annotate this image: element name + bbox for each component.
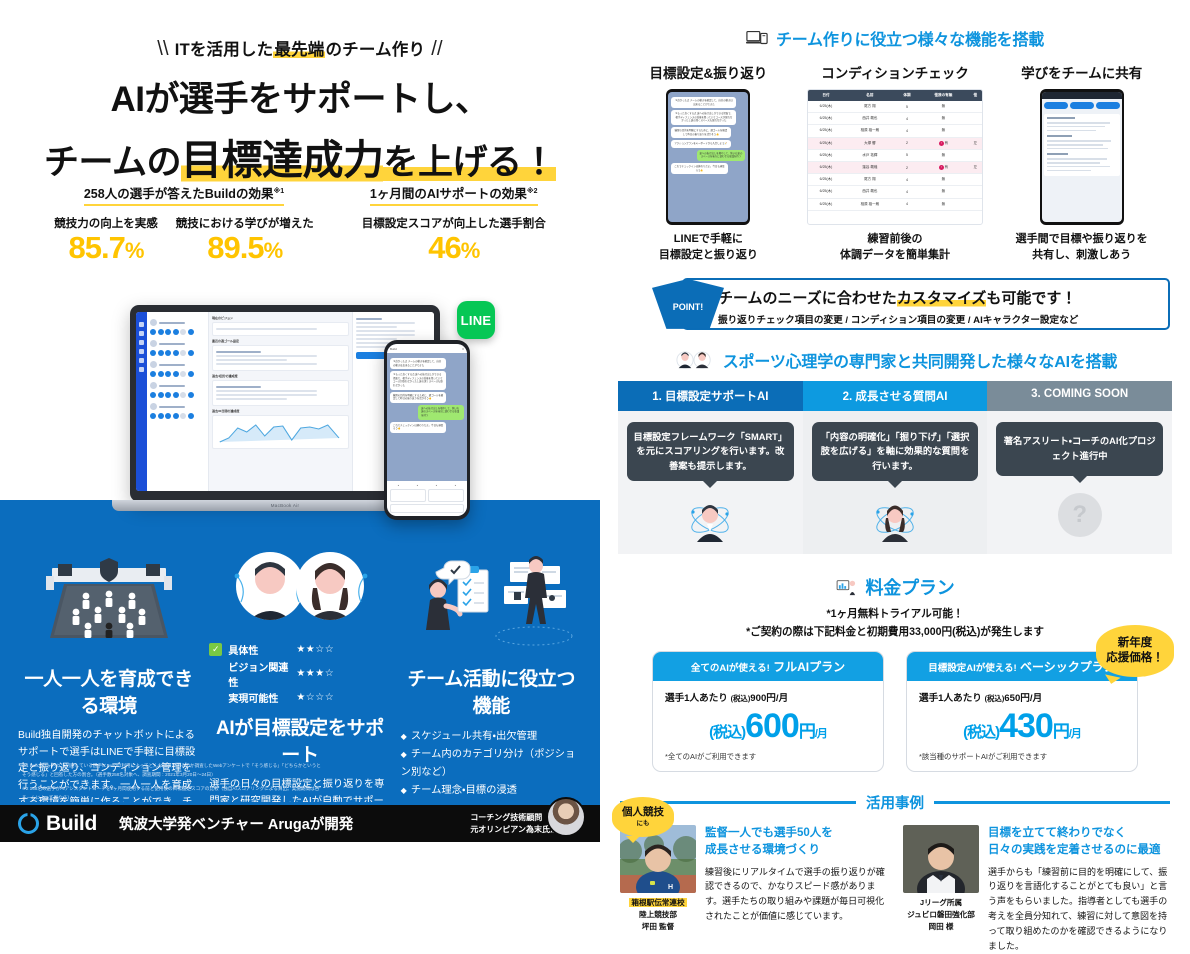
brochure-page: \\ITを活用した最先端のチーム作り// AIが選手をサポートし、 チームの目標… <box>0 0 1190 842</box>
card-caption: LINEで手軽に 目標設定と振り返り <box>620 232 797 264</box>
case-org-line-1: Jリーグ所属 <box>903 897 979 909</box>
slash-right: // <box>425 38 449 60</box>
plan-header: 全てのAIが使える! フルAIプラン <box>653 652 883 681</box>
tab-condition[interactable]: ● <box>417 484 418 487</box>
feature-cards-row: 目標設定&振り返り ▼良かった点 チームの動きを確認して、自分の動きは出来ること… <box>614 62 1176 264</box>
cell-injury: 無 <box>918 113 968 125</box>
cell-condition: 4 <box>895 113 918 125</box>
stat-unit: % <box>125 238 144 263</box>
stat-value: 46% <box>362 232 546 265</box>
phone-action-panel: ●●●● <box>387 481 467 516</box>
phone-quick-cards <box>390 489 464 502</box>
player-status-dots <box>150 329 205 335</box>
nav-icon-goals[interactable] <box>139 340 144 345</box>
avatar <box>150 361 157 368</box>
tab-checkin[interactable]: ● <box>398 484 399 487</box>
stat-number: 85.7 <box>69 230 125 265</box>
status-dot <box>188 350 194 356</box>
case-org-line-2: 陸上競技部 <box>620 909 696 921</box>
card-title <box>216 386 261 388</box>
price-period: /月 <box>815 728 827 740</box>
plan-body: 選手1人あたり (税込)650円/月 (税込)430円/月 *該当種のサポートA… <box>907 681 1137 771</box>
achievement-card <box>212 380 349 406</box>
pricing-cards: 新年度 応援価格！ 全てのAIが使える! フルAIプラン 選手1人あたり (税込… <box>614 651 1176 772</box>
stat-group-2-note: ※2 <box>527 188 538 195</box>
text-line <box>356 338 397 340</box>
status-dot <box>165 350 171 356</box>
card-title: 学びをチームに共有 <box>993 62 1170 82</box>
headline-line-2: チームの目標達成力を上げる！ <box>0 126 600 186</box>
card-caption: 選手間で目標や振り返りを 共有し、刺激しあう <box>993 232 1170 264</box>
phone-menu-icon[interactable]: ≡ <box>462 347 464 351</box>
stat-value: 89.5% <box>176 232 314 265</box>
col-name: 名前 <box>844 90 895 101</box>
status-dot <box>180 329 186 335</box>
status-dot <box>173 350 179 356</box>
ai-avatar-male-svg <box>688 498 732 542</box>
badge-line-2: 応援価格！ <box>1106 651 1164 667</box>
text-line <box>356 326 397 328</box>
table-row: 6/25(木)相原 裕一朗4無 <box>808 198 983 210</box>
text-line <box>356 334 415 336</box>
cell-extra: 左 <box>968 137 982 149</box>
cell-date: 6/25(木) <box>808 149 845 161</box>
old-price-label: 選手1人あたり <box>919 693 982 704</box>
hero-section: \\ITを活用した最先端のチーム作り// AIが選手をサポートし、 チームの目標… <box>0 0 600 186</box>
chat-bubble-incoming: これでチェックインは終わりだよ。今日も頑張ろう👍 <box>390 422 446 433</box>
table-row: 6/25(木)大塚 響2! 有左 <box>808 137 983 149</box>
table-row: 6/25(木)尾方 翔4無 <box>808 174 983 186</box>
feature-card-share-learning: 学びをチームに共有 <box>993 62 1170 264</box>
kicker-post: のチーム作り <box>325 41 425 59</box>
player-name <box>159 406 185 408</box>
cell-condition: 5 <box>895 149 918 161</box>
caption-line-2: 体調データを簡単集計 <box>807 248 984 264</box>
table-row: 6/25(木)尾方 翔5無 <box>808 101 983 113</box>
dashboard-center-panel: 現在のビジョン 直近の週ゴール設定 過去4回分の達成度 <box>209 312 352 491</box>
avatar <box>150 319 157 326</box>
solo-badge-sub: にも <box>637 820 650 827</box>
point-subtitle: 振り返りチェック項目の変更 / コンディション項目の変更 / AIキャラクター設… <box>718 312 1158 326</box>
stat-group-1-heading: 258人の選手が答えたBuildの効果※1 <box>84 183 284 206</box>
product-mockup: 現在のビジョン 直近の週ゴール設定 過去4回分の達成度 <box>112 295 512 545</box>
condition-table: 日付 名前 体調 怪我の有無 怪 6/25(木)尾方 翔5無 6/25(木)西井… <box>808 90 983 211</box>
checkin-button[interactable] <box>390 489 426 502</box>
laptop-phone-icon <box>746 29 768 47</box>
section-2-title: スポーツ心理学の専門家と共同開発した様々なAIを搭載 <box>723 348 1117 372</box>
brand-name: Build <box>46 812 97 836</box>
rating-row-vision: ✓ ビジョン関連性 ★★★☆ <box>209 659 390 689</box>
player-row[interactable] <box>150 319 205 326</box>
point-title: チームのニーズに合わせたカスタマイズも可能です！ <box>718 287 1158 308</box>
dashboard-achievement-label: 過去4回分の達成度 <box>212 374 349 378</box>
feature-illustration-activity <box>401 540 582 660</box>
kicker-highlight: 最先端 <box>273 41 325 59</box>
table-row: 6/25(木)水戸 祐輝5無 <box>808 149 983 161</box>
status-dot <box>180 371 186 377</box>
headline-line-1: AIが選手をサポートし、 <box>0 71 600 122</box>
cell-condition: 2 <box>895 137 918 149</box>
ai-col-growth-question: 「内容の明確化」「掘り下げ」「選択肢を広げる」を軸に効果的な質問を行います。 <box>803 411 988 554</box>
player-status-dots <box>150 350 205 356</box>
table-row: 6/25(木)相原 裕一朗4無 <box>808 125 983 137</box>
section-header-pricing: 料金プラン <box>614 574 1176 600</box>
cell-extra <box>968 198 982 210</box>
cell-name: 窪谷 颯哉 <box>844 161 895 173</box>
plan-note: *該当種のサポートAIがご利用できます <box>919 751 1125 762</box>
plan-header-small: 全てのAIが使える! <box>691 663 770 674</box>
nav-icon-settings[interactable] <box>139 367 144 372</box>
feature-team-functions: チーム活動に役立つ機能 スケジュール共有・出欠管理 チーム内のカテゴリ分け（ポジ… <box>401 540 582 842</box>
case-title-line-1: 目標を立てて終わりでなく <box>988 825 1170 842</box>
status-dot <box>173 392 179 398</box>
cell-date: 6/25(木) <box>808 161 845 173</box>
case-text: 選手からも「練習前に目的を明確にして、振り返りを言語化することがとても良い」と言… <box>988 865 1170 954</box>
status-dot <box>180 350 186 356</box>
text-line <box>216 398 287 400</box>
dashboard-vision-label: 現在のビジョン <box>212 316 349 320</box>
status-dot <box>188 371 194 377</box>
filter-chip[interactable] <box>1044 102 1068 109</box>
dashboard-nav-rail[interactable] <box>136 312 147 491</box>
plan-new-price: (税込)430円/月 <box>919 707 1125 746</box>
price-yen: 円 <box>799 722 815 741</box>
stat-unit: % <box>264 238 283 263</box>
stat-item-skill-improvement: 競技力の向上を実感 85.7% <box>54 215 158 265</box>
feature-illustration-team <box>18 540 199 660</box>
plan-old-price: 選手1人あたり (税込)650円/月 <box>919 690 1125 704</box>
case-org-line-3: 岡田 様 <box>903 921 979 933</box>
right-column: チーム作りに役立つ様々な機能を搭載 目標設定&振り返り ▼良かった点 チームの動… <box>600 0 1190 842</box>
chart-svg <box>213 416 348 449</box>
list-item: チーム内のカテゴリ分け（ポジション別など） <box>401 746 582 782</box>
footnote-2: ※2 158名の選手がAIアシスタントコーチを1ヶ月間使用する前と使用後の目標設… <box>22 785 322 803</box>
player-name <box>159 322 185 324</box>
case-content: 目標を立てて終わりでなく 日々の実践を定着させるのに最適 選手からも「練習前に目… <box>988 825 1170 954</box>
avatar <box>150 340 157 347</box>
tab-other[interactable]: ● <box>455 484 456 487</box>
pricing-note-2: *ご契約の際は下記料金と初期費用33,000円(税込)が発生します <box>614 624 1176 641</box>
case-study-track: H 箱根駅伝常連校 陸上競技部 坪田 監督 監督一人でも選手50人を 成長させる… <box>620 825 887 954</box>
stat-item-learning-increase: 競技における学びが増えた 89.5% <box>176 215 314 265</box>
panel-title <box>356 318 382 320</box>
cell-extra <box>968 149 982 161</box>
cell-injury: 無 <box>918 149 968 161</box>
badge-line-1: 新年度 <box>1106 636 1164 652</box>
case-person: H 箱根駅伝常連校 陸上競技部 坪田 監督 <box>620 825 696 954</box>
ai-bubble: 「内容の明確化」「掘り下げ」「選択肢を広げる」を軸に効果的な質問を行います。 <box>812 422 979 481</box>
chat-screen: ▼良かった点 チームの動きを確認して、自分の動きは出来ることができた ▼もっと良… <box>668 92 748 222</box>
cell-injury: 無 <box>918 174 968 186</box>
cell-extra <box>968 186 982 198</box>
activity-illustration <box>406 548 576 652</box>
case-person: Jリーグ所属 ジュビロ磐田強化部 岡田 様 <box>903 825 979 954</box>
team-field-illustration <box>34 550 184 650</box>
plan-header-small: 目標設定AIが使える! <box>928 663 1016 674</box>
caption-line-1: 選手間で目標や振り返りを <box>993 232 1170 248</box>
player-name <box>159 364 185 366</box>
point-title-highlight: カスタマイズ <box>897 290 987 307</box>
rating-row-specificity: ✓ 具体性 ★★☆☆ <box>209 642 390 657</box>
nav-icon-team[interactable] <box>139 331 144 336</box>
status-dot <box>158 392 164 398</box>
phone-device: Build ≡ ▼良かった点 チームの動きを確認して、自分の動きは出来ることがで… <box>384 340 470 520</box>
table-header-row: 日付 名前 体調 怪我の有無 怪 <box>808 90 983 101</box>
plan-note: *全てのAIがご利用できます <box>665 751 871 762</box>
hero-kicker: \\ITを活用した最先端のチーム作り// <box>0 36 600 61</box>
advisor-photo <box>546 797 586 837</box>
caption-line-2: 共有し、刺激しあう <box>993 248 1170 264</box>
cases-header: 活用事例 <box>614 792 1176 813</box>
point-title-b: も可能です！ <box>986 290 1076 307</box>
cell-extra <box>968 113 982 125</box>
rating-stars: ★★★☆ <box>296 668 334 679</box>
chat-bubble: ▼良かった点 チームの動きを確認して、自分の動きは出来ることができた <box>671 97 736 108</box>
status-dot <box>188 413 194 419</box>
cell-name: 尾方 翔 <box>844 174 895 186</box>
text-line <box>216 355 317 357</box>
dashboard-graph-label: 過去30日間の達成度 <box>212 409 349 413</box>
stat-row-2: 目標設定スコアが向上した選手割合 46% <box>362 215 546 265</box>
menu-toggle-button[interactable] <box>390 504 464 513</box>
col-condition: 体調 <box>895 90 918 101</box>
case-person-name: Jリーグ所属 ジュビロ磐田強化部 岡田 様 <box>903 897 979 933</box>
card-caption: 練習前後の 体調データを簡単集計 <box>807 232 984 264</box>
phone-tabs[interactable]: ●●●● <box>390 484 464 487</box>
dashboard-player-list[interactable] <box>147 312 209 491</box>
player-row[interactable] <box>150 340 205 347</box>
price-number: 600 <box>745 707 799 745</box>
phone-app-title: Build <box>390 347 397 351</box>
plan-header-big: フルAIプラン <box>773 660 845 674</box>
pricing-title: 料金プラン <box>866 574 955 600</box>
case-org-line-2: ジュビロ磐田強化部 <box>903 909 979 921</box>
phone-status-bar: Build ≡ <box>387 344 467 353</box>
phone-chat-thread: ▼良かった点 チームの動きを確認して、自分の動きは出来ることができた ▼もっと良… <box>387 353 467 438</box>
divider-right <box>934 801 1170 804</box>
rating-stars: ★★☆☆ <box>296 644 334 655</box>
footer-bar: Build 筑波大学発ベンチャー Arugaが開発 コーチング技術顧問 元オリン… <box>0 802 600 842</box>
check-icon: ✓ <box>209 643 222 656</box>
chat-bubble: ▼もっと良くする点 裏への抜け出しができる場面で、相手ディフェンスの背後を狙って… <box>671 110 736 125</box>
ai-avatar-female <box>873 498 917 542</box>
tab-share[interactable]: ● <box>436 484 437 487</box>
cell-extra <box>968 174 982 186</box>
cell-condition: 5 <box>895 101 918 113</box>
injury-alert-icon: ! <box>939 141 944 146</box>
feature-title: 一人一人を育成できる環境 <box>18 664 199 718</box>
status-dot <box>180 413 186 419</box>
footnote-1: ※1 Buildを1ヶ月以上利用している選手にBuildの利用によってどんな効果… <box>22 762 322 780</box>
achievement-line-chart <box>212 415 349 449</box>
table-row: 6/25(木)西井 颯也4無 <box>808 113 983 125</box>
build-logo-icon <box>18 813 39 834</box>
cell-date: 6/25(木) <box>808 101 845 113</box>
status-dot <box>165 392 171 398</box>
card-title: コンディションチェック <box>807 62 984 82</box>
text-line <box>356 322 415 324</box>
plan-new-price: (税込)600円/月 <box>665 707 871 746</box>
ai-tab-goal-support[interactable]: 1. 目標設定サポートAI <box>618 381 803 411</box>
footnotes: ※1 Buildを1ヶ月以上利用している選手にBuildの利用によってどんな効果… <box>22 762 322 808</box>
avatar <box>150 403 157 410</box>
player-name <box>159 343 185 345</box>
status-dot <box>150 392 156 398</box>
vision-card <box>212 322 349 336</box>
experts-icon <box>673 351 715 369</box>
old-price-value: 650円/月 <box>1004 693 1042 704</box>
old-price-tax: (税込) <box>985 694 1005 703</box>
case-org-highlight: 箱根駅伝常連校 <box>629 898 686 907</box>
status-dot <box>158 350 164 356</box>
status-dot <box>188 329 194 335</box>
text-line <box>216 363 317 365</box>
stat-value: 85.7% <box>54 232 158 265</box>
status-dot <box>165 371 171 377</box>
case-title-line-1: 監督一人でも選手50人を <box>705 825 887 842</box>
cell-name: 西井 颯也 <box>844 113 895 125</box>
status-dot <box>150 350 156 356</box>
player-row[interactable] <box>150 403 205 410</box>
condition-table-body: 6/25(木)尾方 翔5無 6/25(木)西井 颯也4無 6/25(木)相原 裕… <box>808 101 983 210</box>
status-dot <box>150 371 156 377</box>
headline-2a: チームの <box>44 143 181 182</box>
stat-label: 目標設定スコアが向上した選手割合 <box>362 215 546 231</box>
feature-illustration-ai-avatars <box>209 540 390 636</box>
filter-chip[interactable] <box>1070 102 1094 109</box>
screenshot-line-chat: ▼良かった点 チームの動きを確認して、自分の動きは出来ることができた ▼もっと良… <box>666 89 750 225</box>
chat-bubble: アクションプランをキーボードから入力しよう📝 <box>671 140 730 148</box>
rating-label: ビジョン関連性 <box>228 659 290 689</box>
cell-injury: ! 有 <box>918 161 968 173</box>
avatar <box>150 382 157 389</box>
point-banner: チームのニーズに合わせたカスタマイズも可能です！ 振り返りチェック項目の変更 /… <box>620 278 1170 330</box>
company-credit: 筑波大学発ベンチャー Arugaが開発 <box>119 813 353 834</box>
chat-bubble: これでチェックインは終わりだよ。今日も頑張ろう👍 <box>671 163 727 174</box>
phone-screen: Build ≡ ▼良かった点 チームの動きを確認して、自分の動きは出来ることがで… <box>387 344 467 516</box>
question-mark-icon: ? <box>1058 493 1102 537</box>
stat-unit: % <box>461 238 480 263</box>
case-photo-okada <box>903 825 979 893</box>
cases-title: 活用事例 <box>866 792 924 813</box>
ai-col-goal-support: 目標設定フレームワーク「SMART」を元にスコアリングを行います。改善案も提示し… <box>618 411 803 554</box>
new-year-badge: 新年度 応援価格！ <box>1096 625 1174 677</box>
stat-number: 46 <box>428 230 460 265</box>
pricing-card-basic[interactable]: 目標設定AIが使える! ベーシックプラン 選手1人あたり (税込)650円/月 … <box>906 651 1138 772</box>
cell-name: 相原 裕一朗 <box>844 125 895 137</box>
rating-row-feasibility: ✓ 実現可能性 ★☆☆☆ <box>209 690 390 705</box>
cell-name: 水戸 祐輝 <box>844 149 895 161</box>
player-status-dots <box>150 371 205 377</box>
case-org-line-3: 坪田 監督 <box>620 921 696 933</box>
solo-badge-main: 個人競技 <box>622 807 664 819</box>
rating-label: 具体性 <box>228 642 290 657</box>
case-content: 監督一人でも選手50人を 成長させる環境づくり 練習後にリアルタイムで選手の振り… <box>705 825 887 954</box>
cases-row: 個人競技 にも H <box>614 825 1176 954</box>
stat-group-2-title: 1ヶ月間のAIサポートの効果 <box>370 187 527 201</box>
card-title: 目標設定&振り返り <box>620 62 797 82</box>
filter-chip[interactable] <box>1096 102 1120 109</box>
ai-tab-coming-soon[interactable]: 3. COMING SOON <box>987 381 1172 411</box>
pricing-card-full-ai[interactable]: 全てのAIが使える! フルAIプラン 選手1人あたり (税込)900円/月 (税… <box>652 651 884 772</box>
text-line <box>216 394 317 396</box>
ai-avatars-illustration <box>225 546 375 630</box>
status-dot <box>158 371 164 377</box>
case-title: 目標を立てて終わりでなく 日々の実践を定着させるのに最適 <box>988 825 1170 860</box>
price-yen: 円 <box>1053 722 1069 741</box>
solo-sports-badge: 個人競技 にも <box>612 797 674 837</box>
chat-bubble-user: 裏への抜け出しを増やして、狭い左裏のスペースを味方に使わせる意識を持つ <box>697 150 746 161</box>
cell-extra <box>968 101 982 113</box>
section-header-ai: スポーツ心理学の専門家と共同開発した様々なAIを搭載 <box>614 348 1176 372</box>
line-logo-icon: LINE <box>457 301 495 339</box>
stat-group-2-heading: 1ヶ月間のAIサポートの効果※2 <box>370 183 538 206</box>
feature-title: チーム活動に役立つ機能 <box>401 664 582 718</box>
case-title-line-2: 日々の実践を定着させるのに最適 <box>988 842 1170 859</box>
cell-condition: 2 <box>895 161 918 173</box>
status-dot <box>158 413 164 419</box>
stat-group-build-effect: 258人の選手が答えたBuildの効果※1 競技力の向上を実感 85.7% 競技… <box>54 183 314 265</box>
chat-bubble: 練習の目的を明確にするために、週ゴールを確認して昨日の振り返りを活かそう👍 <box>671 127 730 138</box>
cell-condition: 4 <box>895 174 918 186</box>
staff-photo-illustration <box>903 825 979 893</box>
stat-label: 競技における学びが増えた <box>176 215 314 231</box>
status-dot <box>165 413 171 419</box>
ai-avatar-female-svg <box>873 498 917 542</box>
headline-2c: を上げる！ <box>383 143 556 182</box>
nav-icon-chart[interactable] <box>139 349 144 354</box>
player-row[interactable] <box>150 361 205 368</box>
player-status-dots <box>150 392 205 398</box>
list-item: チーム理念・目標の浸透 <box>401 782 582 800</box>
ai-tab-growth-question[interactable]: 2. 成長させる質問AI <box>803 381 988 411</box>
col-injury: 怪我の有無 <box>918 90 968 101</box>
goal-card <box>212 345 349 371</box>
stat-item-goal-score: 目標設定スコアが向上した選手割合 46% <box>362 215 546 265</box>
ai-tabs: 1. 目標設定サポートAI 2. 成長させる質問AI 3. COMING SOO… <box>614 381 1176 411</box>
ai-bubble: 目標設定フレームワーク「SMART」を元にスコアリングを行います。改善案も提示し… <box>627 422 794 481</box>
status-dot <box>180 392 186 398</box>
slash-left: \\ <box>151 38 175 60</box>
feature-card-goal-setting: 目標設定&振り返り ▼良かった点 チームの動きを確認して、自分の動きは出来ること… <box>620 62 797 264</box>
feature-title: AIが目標設定をサポート <box>209 713 390 767</box>
section-header-features: チーム作りに役立つ様々な機能を搭載 <box>614 26 1176 50</box>
nav-icon-home[interactable] <box>139 322 144 327</box>
checkout-button[interactable] <box>428 489 464 502</box>
ai-columns: 目標設定フレームワーク「SMART」を元にスコアリングを行います。改善案も提示し… <box>614 411 1176 554</box>
cell-injury: 無 <box>918 186 968 198</box>
nav-icon-calendar[interactable] <box>139 358 144 363</box>
case-title: 監督一人でも選手50人を 成長させる環境づくり <box>705 825 887 860</box>
cell-condition: 4 <box>895 198 918 210</box>
tax-label: (税込) <box>963 724 999 741</box>
plan-body: 選手1人あたり (税込)900円/月 (税込)600円/月 *全てのAIがご利用… <box>653 681 883 771</box>
cell-name: 相原 裕一朗 <box>844 198 895 210</box>
player-row[interactable] <box>150 382 205 389</box>
stat-label: 競技力の向上を実感 <box>54 215 158 231</box>
text-line <box>216 390 317 392</box>
svg-text:H: H <box>668 884 673 891</box>
chat-bubble-incoming: ▼もっと良くする点 裏への抜け出しができる場面で、相手ディフェンスの背後を狙って… <box>390 371 446 389</box>
chat-bubble-outgoing: 裏への抜け出しを増やして、狭い左裏のスペースを味方に使わせる意識を持つ <box>418 405 464 420</box>
table-row: 6/25(木)窪谷 颯哉2! 有左 <box>808 161 983 173</box>
col-extra: 怪 <box>968 90 982 101</box>
rating-stars: ★☆☆☆ <box>296 692 334 703</box>
card-title <box>216 351 261 353</box>
cell-date: 6/25(木) <box>808 137 845 149</box>
cell-injury: 無 <box>918 101 968 113</box>
price-number: 430 <box>999 707 1053 745</box>
